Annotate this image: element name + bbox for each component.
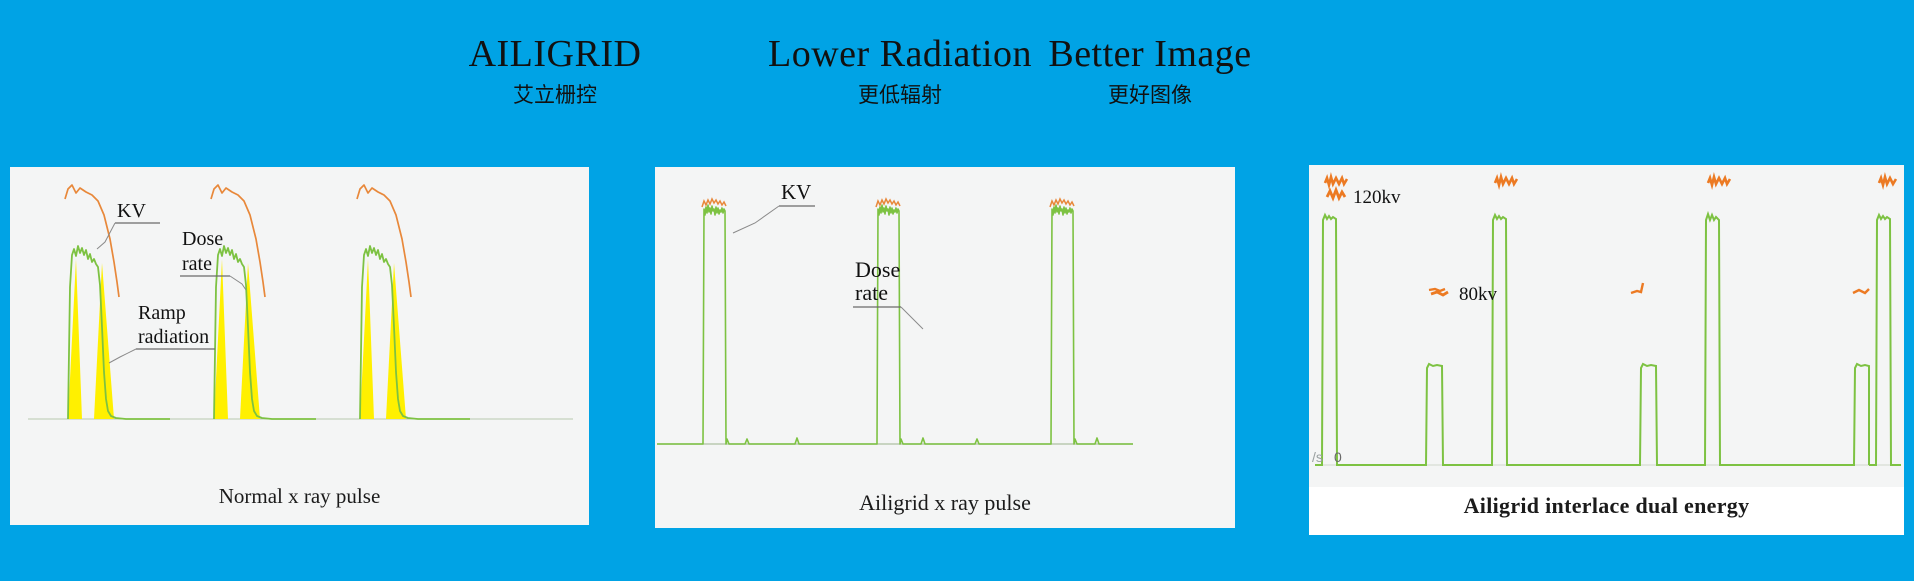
dose-rate-curve — [657, 205, 870, 444]
kv-high-swatch — [1327, 190, 1345, 198]
square-pulse — [1041, 199, 1133, 444]
legend-120kv-text: 120kv — [1353, 187, 1401, 208]
ramp-radiation-fill — [94, 263, 114, 419]
panel-caption-ailigrid-interlace-dual-energy: Ailigrid interlace dual energy — [1309, 487, 1904, 527]
legend-120kv: 120kv — [1327, 187, 1401, 208]
annotation-dose-rate: Dose rate — [853, 257, 923, 329]
header-banner: AILIGRID 艾立栅控 Lower Radiation 更低辐射 Bette… — [0, 0, 1914, 135]
annotation-ramp-radiation: Ramp radiation — [109, 302, 215, 363]
square-pulse — [657, 199, 870, 444]
plot-normal-x-ray-pulse: KV Dose rate Ramp radiation — [10, 167, 589, 525]
dose-rate-curve-low — [1732, 364, 1869, 465]
kv-marker-high — [1325, 177, 1896, 185]
dose-rate-curve — [870, 205, 1041, 444]
dose-rate-curve — [360, 246, 470, 419]
dose-rate-curve-high — [1315, 215, 1349, 465]
kv-curve — [357, 185, 411, 297]
high-energy-pulse — [1315, 214, 1901, 465]
dose-rate-curve-low — [1519, 364, 1698, 465]
kv-curve — [65, 185, 119, 297]
annotation-kv: KV — [733, 180, 815, 233]
header-title-en-2: Better Image — [920, 32, 1380, 76]
chart-panel-ailigrid-x-ray-pulse: KV Dose rate Ailigrid x ray pulse — [655, 167, 1235, 528]
axis-label-group: /s 0 — [1312, 449, 1342, 465]
kv-curve — [702, 199, 726, 207]
plot-ailigrid-interlace-dual-energy: 120kv 80kv /s 0 — [1309, 165, 1904, 535]
panel-caption-ailigrid-x-ray-pulse: Ailigrid x ray pulse — [655, 490, 1235, 516]
panel-caption-normal-x-ray-pulse: Normal x ray pulse — [10, 484, 589, 509]
axis-zero-tick: 0 — [1334, 449, 1342, 465]
header-column-better-image: Better Image 更好图像 — [920, 32, 1380, 110]
dose-rate-curve — [214, 246, 316, 419]
dose-rate-curve-low — [1349, 364, 1485, 465]
dose-rate-curve-high — [1869, 215, 1901, 465]
dose-rate-curve-high — [1698, 214, 1732, 465]
annotation-dose-rate-line2: rate — [855, 280, 888, 305]
annotation-ramp-line1: Ramp — [138, 302, 186, 324]
annotation-dose-rate-line2: rate — [182, 253, 212, 275]
annotation-kv-text: KV — [781, 180, 811, 204]
axis-unit-label: /s — [1312, 449, 1323, 465]
legend-80kv-text: 80kv — [1459, 284, 1498, 305]
ramp-radiation-fill — [386, 263, 406, 419]
annotation-dose-rate-line1: Dose — [855, 257, 900, 282]
annotation-dose-rate-line1: Dose — [182, 228, 223, 250]
dose-rate-curve-high — [1485, 215, 1519, 465]
plot-ailigrid-x-ray-pulse: KV Dose rate — [655, 167, 1235, 528]
annotation-kv-text: KV — [117, 200, 146, 222]
slide-root: AILIGRID 艾立栅控 Lower Radiation 更低辐射 Bette… — [0, 0, 1914, 581]
low-energy-pulse — [1349, 364, 1869, 465]
kv-low-swatch — [1431, 292, 1448, 295]
chart-panel-ailigrid-interlace-dual-energy: 120kv 80kv /s 0 Ailigrid interlace dual … — [1309, 165, 1904, 535]
annotation-dose-rate: Dose rate — [180, 228, 246, 290]
kv-curve — [876, 199, 900, 207]
kv-curve — [1050, 199, 1074, 207]
legend-80kv: 80kv — [1431, 284, 1498, 305]
annotation-ramp-line2: radiation — [138, 326, 209, 348]
dose-rate-curve — [1041, 205, 1133, 444]
header-title-cn-2: 更好图像 — [920, 80, 1380, 110]
chart-panel-normal-x-ray-pulse: KV Dose rate Ramp radiation — [10, 167, 589, 525]
square-pulse — [870, 199, 1041, 444]
